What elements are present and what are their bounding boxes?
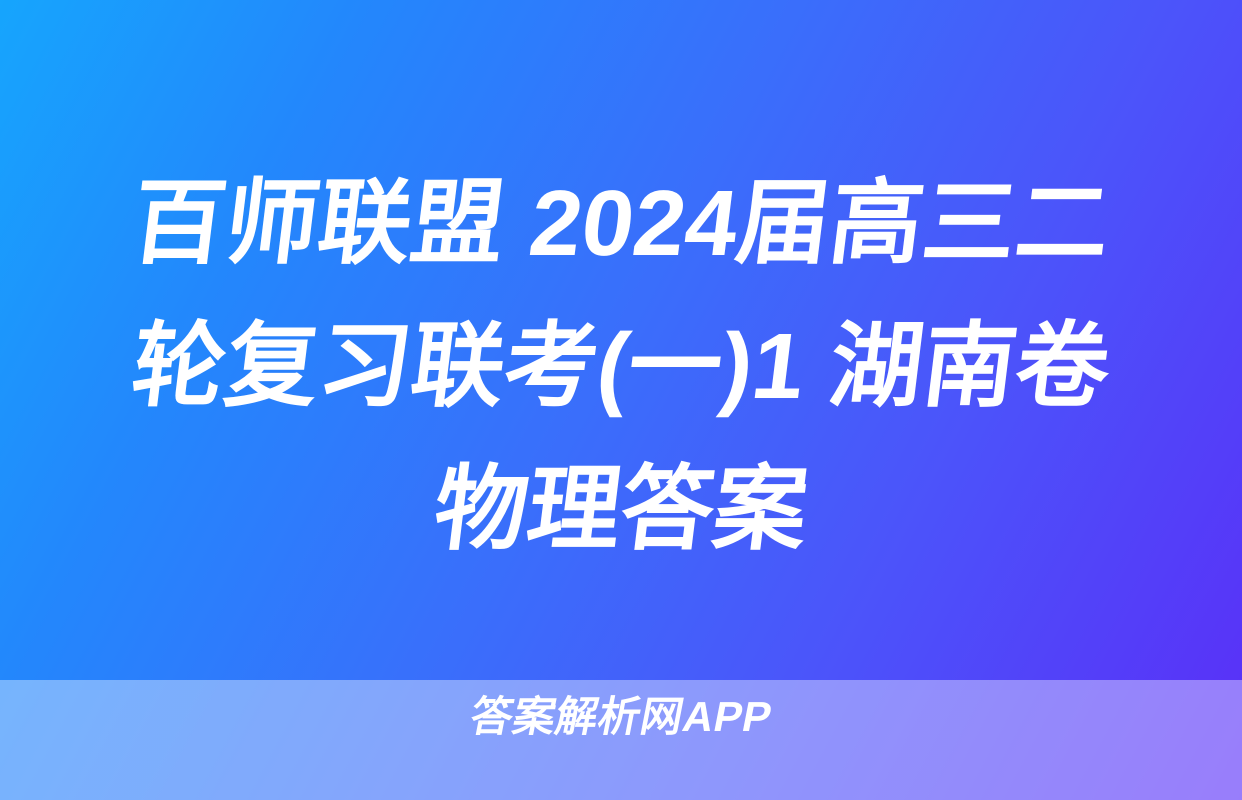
title-line-3: 物理答案 xyxy=(35,438,1207,581)
title-line-2: 轮复习联考(一)1 湖南卷 xyxy=(35,295,1207,438)
footer-watermark-band: 答案解析网APP xyxy=(0,680,1242,800)
cover-card: 百师联盟 2024届高三二 轮复习联考(一)1 湖南卷 物理答案 答案解析网AP… xyxy=(0,0,1242,800)
page-title: 百师联盟 2024届高三二 轮复习联考(一)1 湖南卷 物理答案 xyxy=(0,152,1242,581)
app-watermark-label: 答案解析网APP xyxy=(466,691,776,743)
title-line-1: 百师联盟 2024届高三二 xyxy=(35,152,1207,295)
